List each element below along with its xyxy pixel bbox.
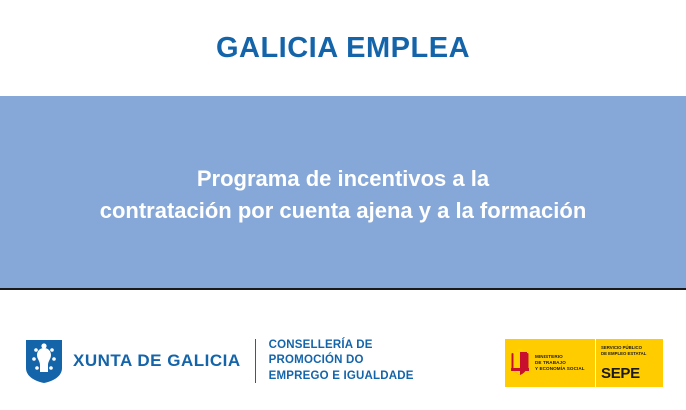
poster-page: GALICIA EMPLEA Programa de incentivos a … bbox=[0, 0, 686, 410]
banner-line-2: contratación por cuenta ajena y a la for… bbox=[23, 195, 663, 227]
ministerio-line-3: Y ECONOMÍA SOCIAL bbox=[535, 366, 585, 372]
ministerio-text: MINISTERIO DE TRABAJO Y ECONOMÍA SOCIAL bbox=[535, 354, 585, 373]
sepe-acronym: SEPE bbox=[601, 365, 640, 382]
xunta-vertical-separator bbox=[255, 339, 256, 383]
page-title: GALICIA EMPLEA bbox=[216, 32, 470, 65]
conselleria-line-2: PROMOCIÓN DO bbox=[269, 353, 414, 368]
xunta-de-galicia-logo: XUNTA DE GALICIA CONSELLERÍA DE PROMOCIÓ… bbox=[24, 338, 414, 384]
sepe-subtitle-line-2: DE EMPLEO ESTATAL bbox=[601, 351, 646, 357]
ministerio-logo: MINISTERIO DE TRABAJO Y ECONOMÍA SOCIAL bbox=[505, 339, 595, 387]
xunta-wordmark-line-2: DE GALICIA bbox=[137, 351, 240, 370]
banner-line-1: Programa de incentivos a la bbox=[23, 163, 663, 195]
conselleria-text: CONSELLERÍA DE PROMOCIÓN DO EMPREGO E IG… bbox=[269, 338, 414, 384]
title-area: GALICIA EMPLEA bbox=[0, 0, 686, 96]
conselleria-line-1: CONSELLERÍA DE bbox=[269, 338, 414, 353]
spain-coat-of-arms-icon bbox=[509, 348, 531, 378]
sepe-logo: SERVICIO PÚBLICO DE EMPLEO ESTATAL SEPE bbox=[595, 339, 663, 387]
xunta-wordmark-line-1: XUNTA bbox=[73, 351, 132, 370]
banner-text: Programa de incentivos a la contratación… bbox=[23, 157, 663, 227]
xunta-shield-icon bbox=[24, 338, 64, 384]
footer-logos: XUNTA DE GALICIA CONSELLERÍA DE PROMOCIÓ… bbox=[0, 290, 686, 410]
sepe-subtitle: SERVICIO PÚBLICO DE EMPLEO ESTATAL bbox=[601, 345, 646, 357]
government-logos: MINISTERIO DE TRABAJO Y ECONOMÍA SOCIAL … bbox=[505, 339, 663, 387]
conselleria-line-3: EMPREGO E IGUALDADE bbox=[269, 369, 414, 384]
xunta-wordmark: XUNTA DE GALICIA bbox=[73, 351, 241, 371]
program-banner: Programa de incentivos a la contratación… bbox=[0, 96, 686, 288]
